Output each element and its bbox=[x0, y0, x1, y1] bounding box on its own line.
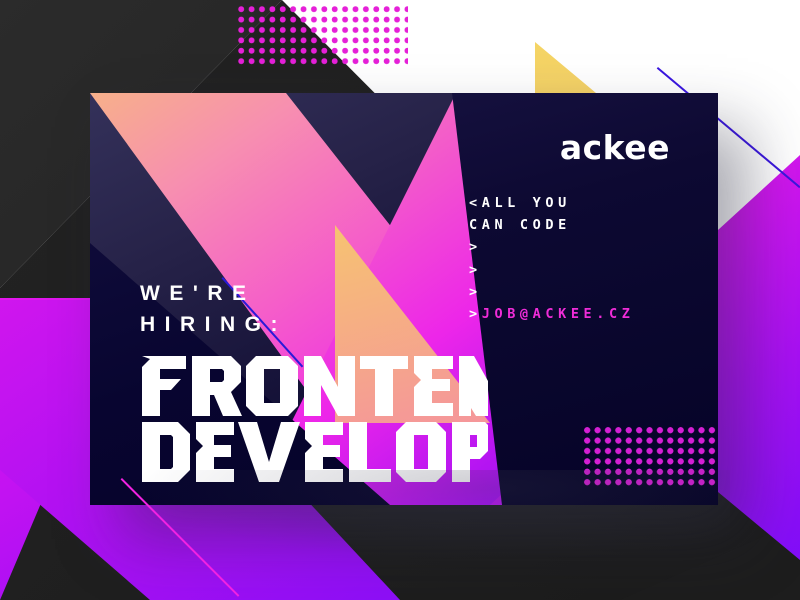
headline-text bbox=[138, 356, 488, 482]
poster-canvas: ackee <ALL YOU CAN CODE > > > >JOB@ACKEE… bbox=[0, 0, 800, 600]
kicker-text: WE'RE HIRING: bbox=[140, 278, 287, 340]
brand-logo: ackee bbox=[560, 131, 670, 164]
code-line-2: CAN CODE bbox=[469, 217, 571, 233]
poster-card: ackee <ALL YOU CAN CODE > > > >JOB@ACKEE… bbox=[90, 93, 718, 505]
dot-grid-card-icon bbox=[582, 425, 718, 487]
code-line-5: > bbox=[469, 284, 482, 300]
code-line-4: > bbox=[469, 262, 482, 278]
headline-line-2-developer bbox=[138, 422, 488, 482]
kicker-line-1: WE'RE bbox=[140, 282, 256, 305]
email-link[interactable]: JOB@ACKEE.CZ bbox=[482, 306, 635, 322]
code-line-1: <ALL YOU bbox=[469, 195, 571, 211]
dot-grid-top-icon bbox=[236, 4, 408, 66]
kicker-line-2: HIRING: bbox=[140, 313, 287, 336]
code-line-prompt: > bbox=[469, 306, 482, 322]
headline-line-1-frontend bbox=[138, 356, 488, 416]
code-line-3: > bbox=[469, 239, 482, 255]
code-terminal-block: <ALL YOU CAN CODE > > > >JOB@ACKEE.CZ bbox=[469, 192, 634, 325]
